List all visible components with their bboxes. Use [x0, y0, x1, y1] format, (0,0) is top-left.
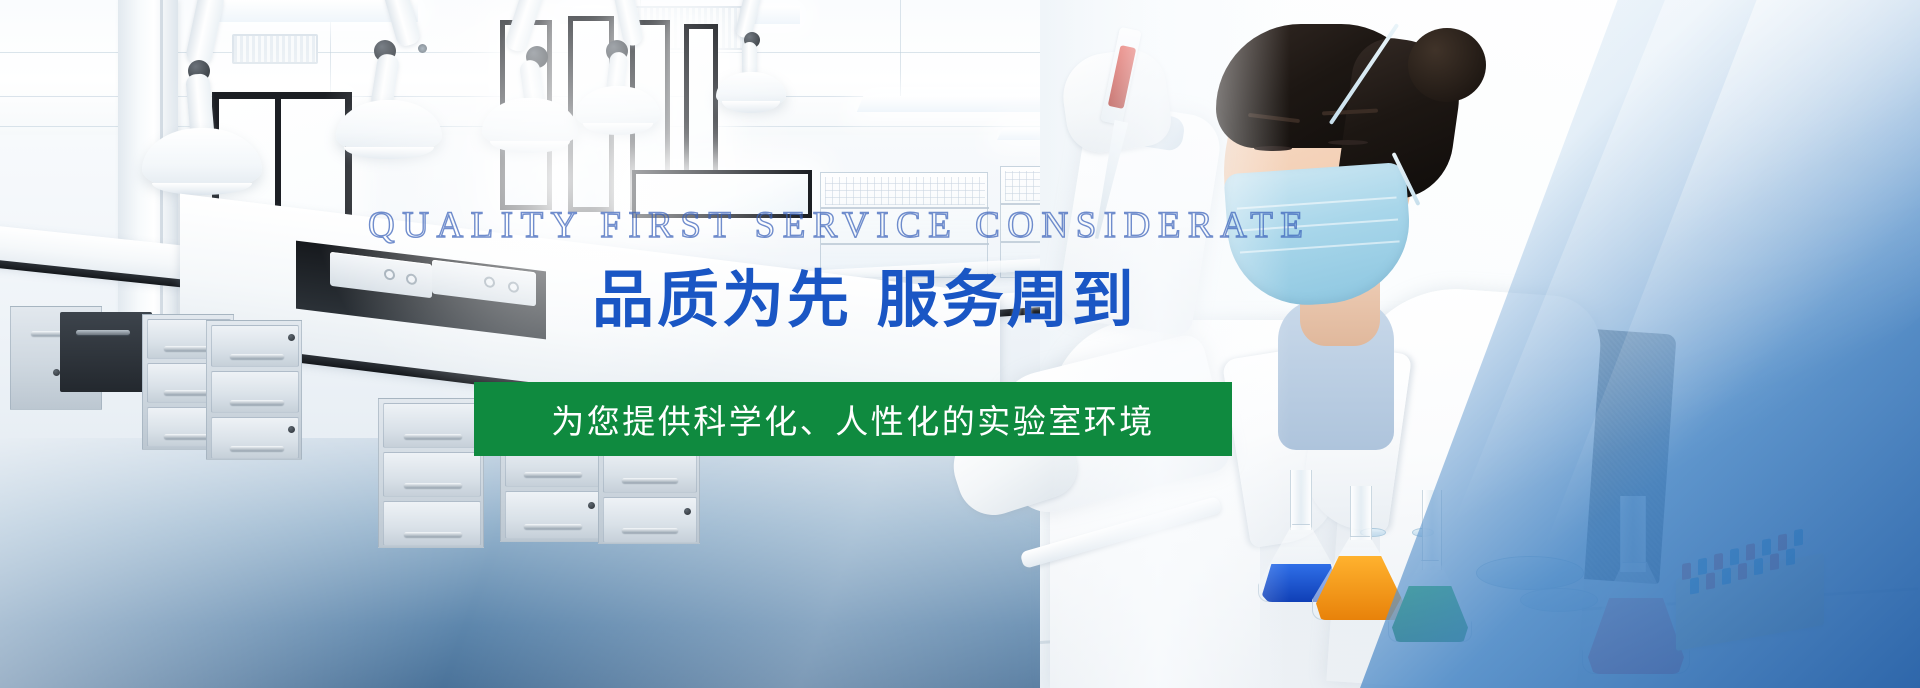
drawer-bank: [378, 398, 484, 548]
extraction-hood: [576, 86, 660, 130]
hero-banner: QUALITY FIRST SERVICE CONSIDERATE 品质为先 服…: [0, 0, 1920, 688]
drawer: [383, 452, 481, 497]
drawer: [211, 417, 299, 459]
banner-eyebrow-text: QUALITY FIRST SERVICE CONSIDERATE: [368, 204, 1310, 247]
drawer-handle: [524, 524, 582, 529]
hair-bun: [1408, 28, 1486, 102]
drawer-bank: [206, 320, 302, 460]
drawer-lock: [288, 334, 295, 341]
laboratory-interior-photo: [0, 0, 1180, 688]
scientist-photo: [1040, 0, 1920, 688]
drawer-handle: [622, 478, 678, 483]
unit-handle: [76, 330, 130, 335]
drawer-handle: [230, 400, 284, 405]
drawer: [603, 497, 697, 543]
drawer-handle: [622, 528, 678, 533]
drawer-lock: [288, 426, 295, 433]
banner-background-scene: [0, 0, 1920, 688]
banner-headline: 品质为先 服务周到: [592, 249, 1137, 339]
ceiling-grid-line: [900, 0, 901, 110]
fume-extraction-arm: [120, 0, 320, 200]
extraction-hood: [142, 128, 262, 190]
drawer-lock: [588, 502, 595, 509]
cabinet-lock: [53, 369, 60, 376]
fume-extraction-arm: [700, 0, 880, 170]
service-knob: [384, 268, 395, 280]
service-knob: [484, 276, 495, 288]
drawer: [383, 501, 481, 546]
flask-neck: [1350, 486, 1372, 540]
drawer-handle: [404, 532, 462, 537]
service-knob: [406, 273, 417, 285]
arm-segment: [185, 0, 226, 66]
drawer: [211, 371, 299, 413]
drawer-lock: [684, 508, 691, 515]
banner-subtitle-bar: 为您提供科学化、人性化的实验室环境: [474, 382, 1232, 456]
banner-subtitle-text: 为您提供科学化、人性化的实验室环境: [551, 395, 1155, 443]
under-bench-unit: [60, 312, 152, 392]
drawer-handle: [404, 483, 462, 488]
eye: [1254, 146, 1292, 151]
extraction-hood: [716, 72, 786, 108]
service-knob: [508, 281, 519, 293]
drawer-handle: [230, 354, 284, 359]
drawer: [383, 403, 481, 448]
drawer: [505, 491, 601, 539]
drawer-handle: [230, 446, 284, 451]
drawer-handle: [524, 472, 582, 477]
drawer-handle: [404, 434, 462, 439]
eye: [1328, 140, 1368, 145]
rack-mesh: [825, 177, 985, 205]
drawer: [211, 325, 299, 367]
